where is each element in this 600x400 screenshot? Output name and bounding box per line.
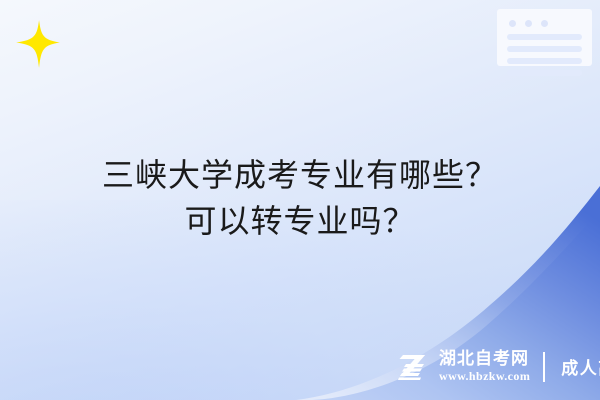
headline-line-1: 三峡大学成考专业有哪些？ — [0, 152, 600, 198]
site-url: www.hbzkw.com — [439, 369, 530, 383]
document-window-icon — [497, 9, 592, 66]
window-line — [507, 46, 582, 52]
headline-line-2: 可以转专业吗？ — [0, 198, 600, 244]
site-logo-text: 湖北自考网 www.hbzkw.com — [439, 350, 530, 383]
promo-banner: 三峡大学成考专业有哪些？ 可以转专业吗？ 湖北自考网 www.hbzkw.com… — [0, 0, 600, 400]
window-dot — [509, 20, 516, 27]
logo-divider — [543, 352, 545, 382]
site-name: 湖北自考网 — [439, 350, 530, 369]
site-logo-lockup[interactable]: 湖北自考网 www.hbzkw.com 成人高考 — [398, 350, 600, 383]
window-line — [507, 34, 582, 40]
banner-headline: 三峡大学成考专业有哪些？ 可以转专业吗？ — [0, 152, 600, 244]
window-dot — [541, 20, 548, 27]
window-text-lines — [507, 34, 582, 76]
window-dot — [525, 20, 532, 27]
sparkle-star-icon — [12, 18, 64, 70]
hbzkw-z-mark-icon — [398, 352, 430, 382]
logo-tagline: 成人高考 — [561, 354, 600, 379]
window-line — [507, 58, 582, 64]
window-line — [507, 70, 582, 76]
window-dots — [509, 20, 582, 27]
